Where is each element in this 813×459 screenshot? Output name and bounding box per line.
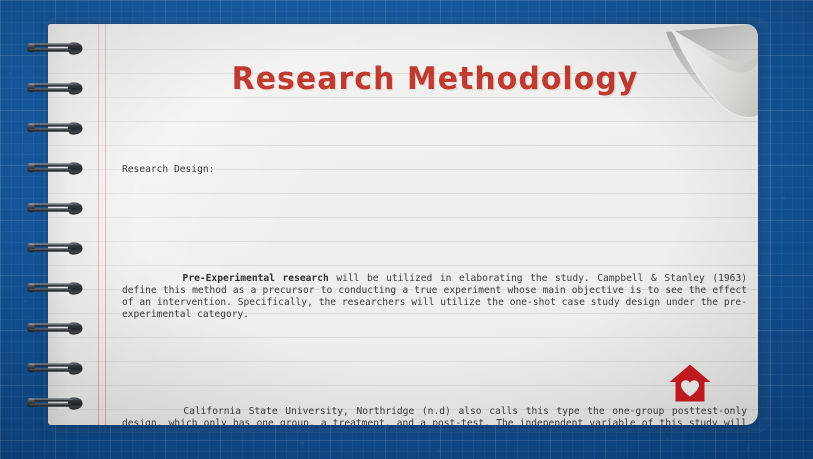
background-speck (300, 441, 304, 445)
paper-content-area: Research Methodology Research Design: Pr… (120, 24, 750, 425)
background-speck (781, 196, 785, 200)
page-title: Research Methodology (133, 61, 738, 97)
paragraph-one-group-posttest: California State University, Northridge … (122, 406, 747, 425)
background-speck (666, 437, 669, 440)
notebook-paper-sheet: Research Methodology Research Design: Pr… (48, 24, 758, 425)
document-body: Research Design: Pre-Experimental resear… (122, 128, 747, 425)
spacer (122, 213, 747, 237)
background-speck (769, 120, 772, 123)
background-speck (746, 447, 750, 451)
paragraph-text: California State University, Northridge … (122, 406, 753, 425)
paragraph-pre-experimental: Pre-Experimental research will be utiliz… (122, 273, 747, 321)
bold-term-pre-experimental-research: Pre-Experimental research (183, 273, 329, 284)
slide-canvas: Research Methodology Research Design: Pr… (0, 0, 813, 459)
background-speck (24, 300, 27, 303)
background-speck (437, 449, 440, 452)
spacer (122, 358, 747, 370)
left-margin-line-outer (98, 24, 99, 425)
section-heading-research-design: Research Design: (122, 164, 747, 176)
background-speck (9, 72, 12, 75)
left-margin-line-inner (105, 24, 106, 425)
house-heart-icon (668, 363, 712, 403)
paper-binding-shade (48, 24, 70, 425)
